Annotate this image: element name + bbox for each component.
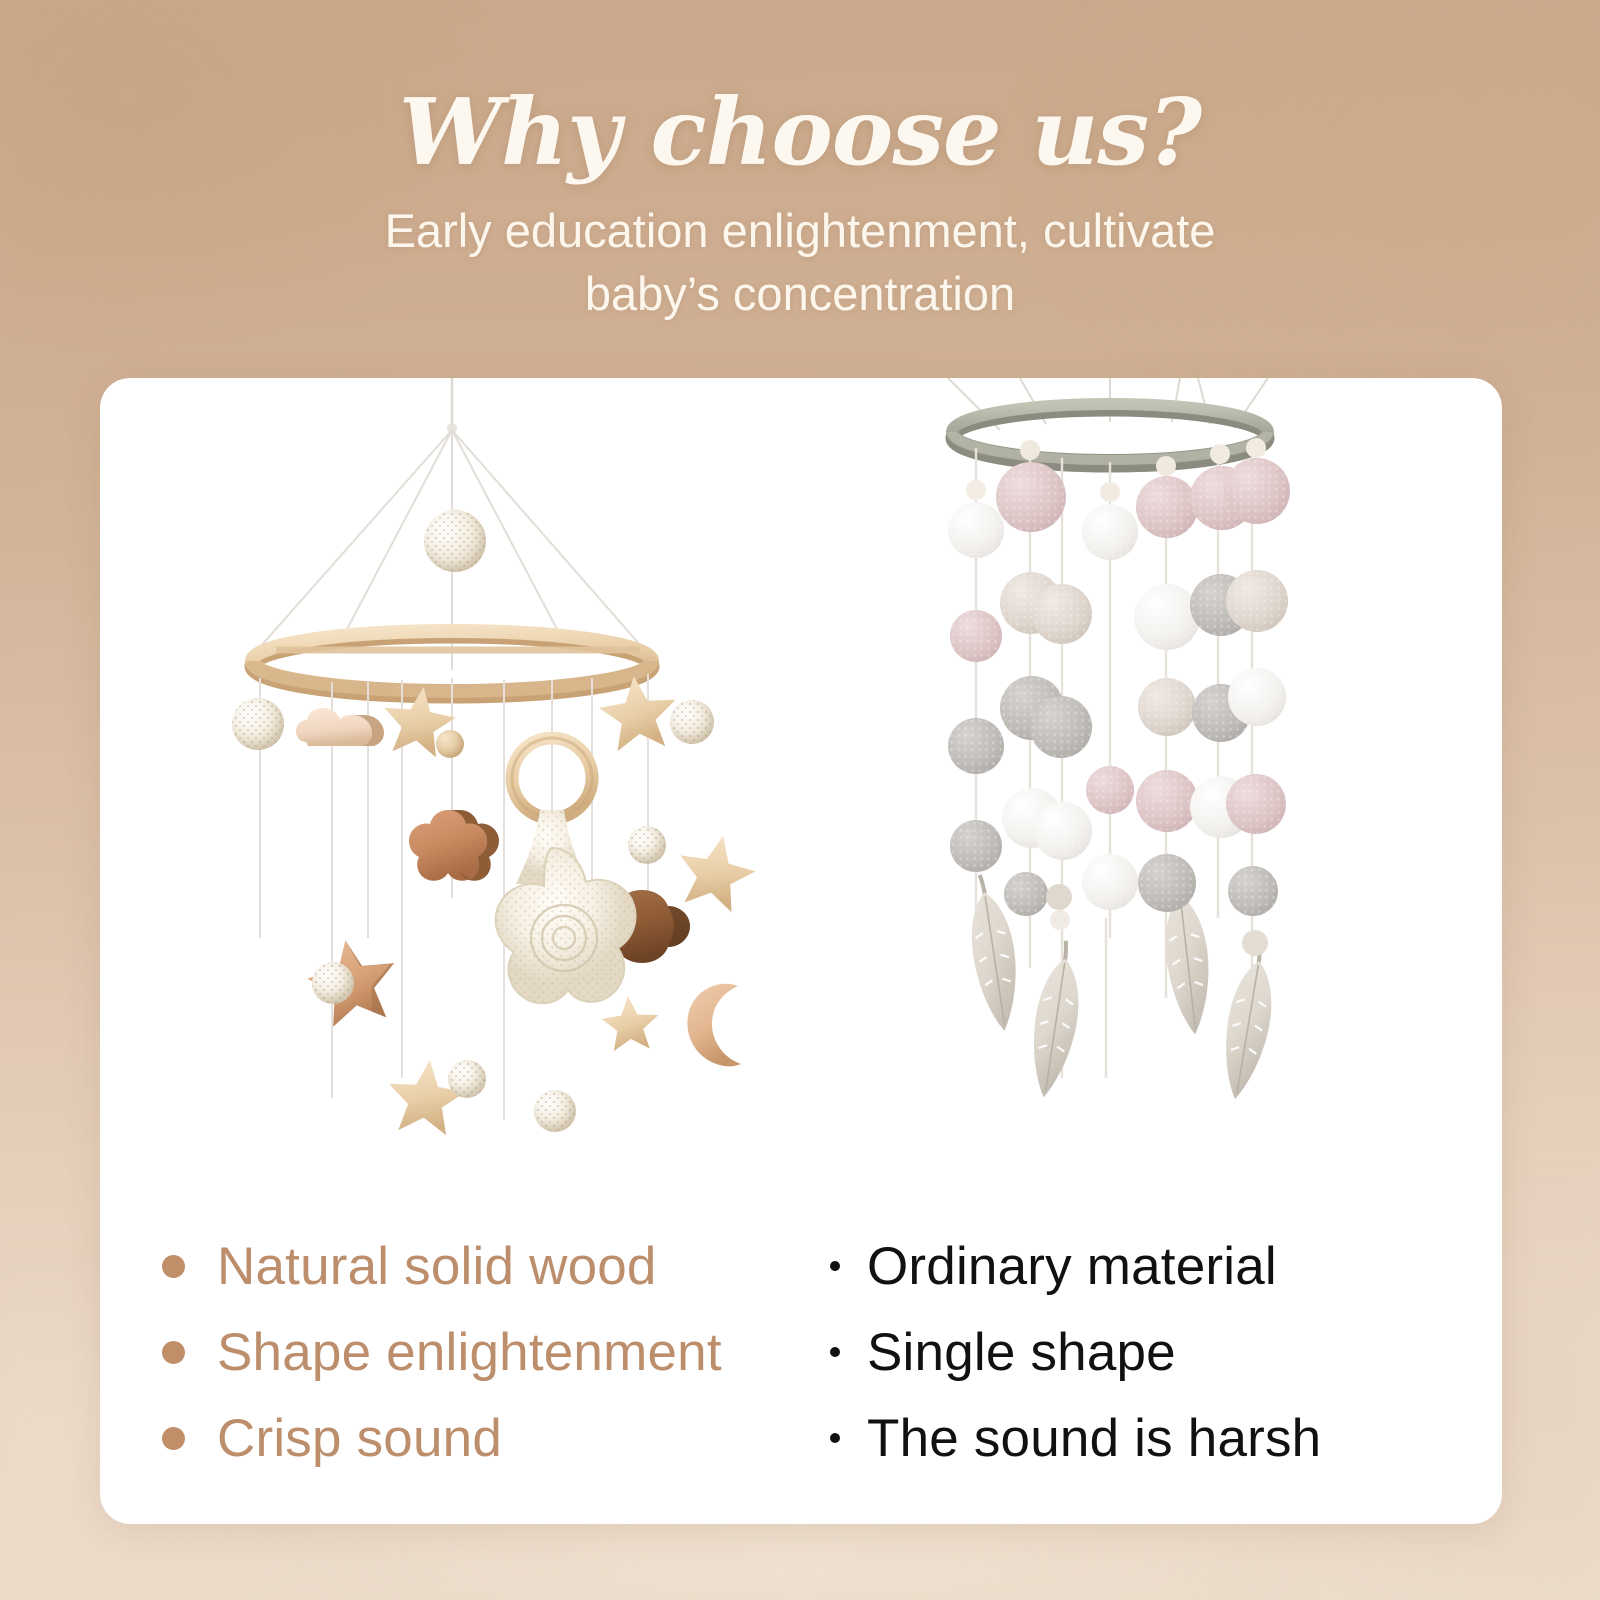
wooden-bead	[1210, 444, 1230, 464]
felt-ball	[1226, 774, 1286, 834]
wooden-feather-4	[1216, 940, 1282, 1103]
felt-ball	[1226, 570, 1288, 632]
wooden-bead	[966, 480, 986, 500]
felt-ball	[950, 820, 1002, 872]
comparison-card: Natural solid wood Shape enlightenment C…	[100, 378, 1502, 1524]
theirs-item-label: Ordinary material	[867, 1236, 1277, 1297]
list-item: Ordinary material	[830, 1223, 1502, 1309]
page-subtitle: Early education enlightenment, cultivate…	[0, 178, 1600, 325]
felt-ball	[1032, 584, 1092, 644]
header: Why choose us? Early education enlighten…	[0, 0, 1600, 325]
felt-ball	[948, 502, 1004, 558]
list-item: Shape enlightenment	[162, 1309, 800, 1395]
felt-ball	[1004, 872, 1048, 916]
wooden-bead	[1156, 456, 1176, 476]
list-item: Natural solid wood	[162, 1223, 800, 1309]
subtitle-line-2: baby’s concentration	[585, 267, 1015, 320]
page-title: Why choose us?	[0, 0, 1600, 178]
felt-ball	[1136, 770, 1198, 832]
felt-ball	[950, 610, 1002, 662]
felt-ball	[1134, 584, 1200, 650]
felt-ball	[1136, 476, 1198, 538]
felt-ball	[996, 462, 1066, 532]
bullet-dot-icon	[162, 1427, 185, 1450]
bullet-dot-icon	[162, 1341, 185, 1364]
ours-column: Natural solid wood Shape enlightenment C…	[100, 1223, 800, 1523]
felt-ball	[1228, 866, 1278, 916]
ours-item-label: Natural solid wood	[217, 1236, 657, 1297]
bullet-dot-icon	[162, 1255, 185, 1278]
wooden-bead	[1020, 440, 1040, 460]
felt-ball	[1224, 458, 1290, 524]
comparison-lists: Natural solid wood Shape enlightenment C…	[100, 1223, 1502, 1523]
felt-ball	[1138, 678, 1196, 736]
theirs-item-label: The sound is harsh	[867, 1408, 1321, 1469]
theirs-column: Ordinary material Single shape The sound…	[800, 1223, 1502, 1523]
list-item: The sound is harsh	[830, 1395, 1502, 1481]
ours-item-label: Crisp sound	[217, 1408, 502, 1469]
wooden-bead	[1046, 884, 1072, 910]
felt-ball	[1086, 766, 1134, 814]
bullet-dot-icon	[830, 1433, 840, 1443]
felt-ball	[1030, 696, 1092, 758]
bullet-dot-icon	[830, 1347, 840, 1357]
list-item: Crisp sound	[162, 1395, 800, 1481]
list-item: Single shape	[830, 1309, 1502, 1395]
felt-ball	[948, 718, 1004, 774]
felt-ball	[1138, 854, 1196, 912]
felt-ball	[1228, 668, 1286, 726]
bullet-dot-icon	[830, 1261, 840, 1271]
felt-ball	[1082, 854, 1138, 910]
theirs-item-label: Single shape	[867, 1322, 1176, 1383]
ours-item-label: Shape enlightenment	[217, 1322, 722, 1383]
felt-mobile-illustration	[100, 378, 1502, 1238]
wooden-bead	[1100, 482, 1120, 502]
wooden-bead	[1050, 910, 1070, 930]
wooden-feather-2	[1025, 938, 1088, 1100]
subtitle-line-1: Early education enlightenment, cultivate	[385, 204, 1216, 257]
wooden-bead	[1242, 930, 1268, 956]
felt-ball	[1082, 504, 1138, 560]
felt-ball	[1034, 802, 1092, 860]
wooden-bead	[1246, 438, 1266, 458]
